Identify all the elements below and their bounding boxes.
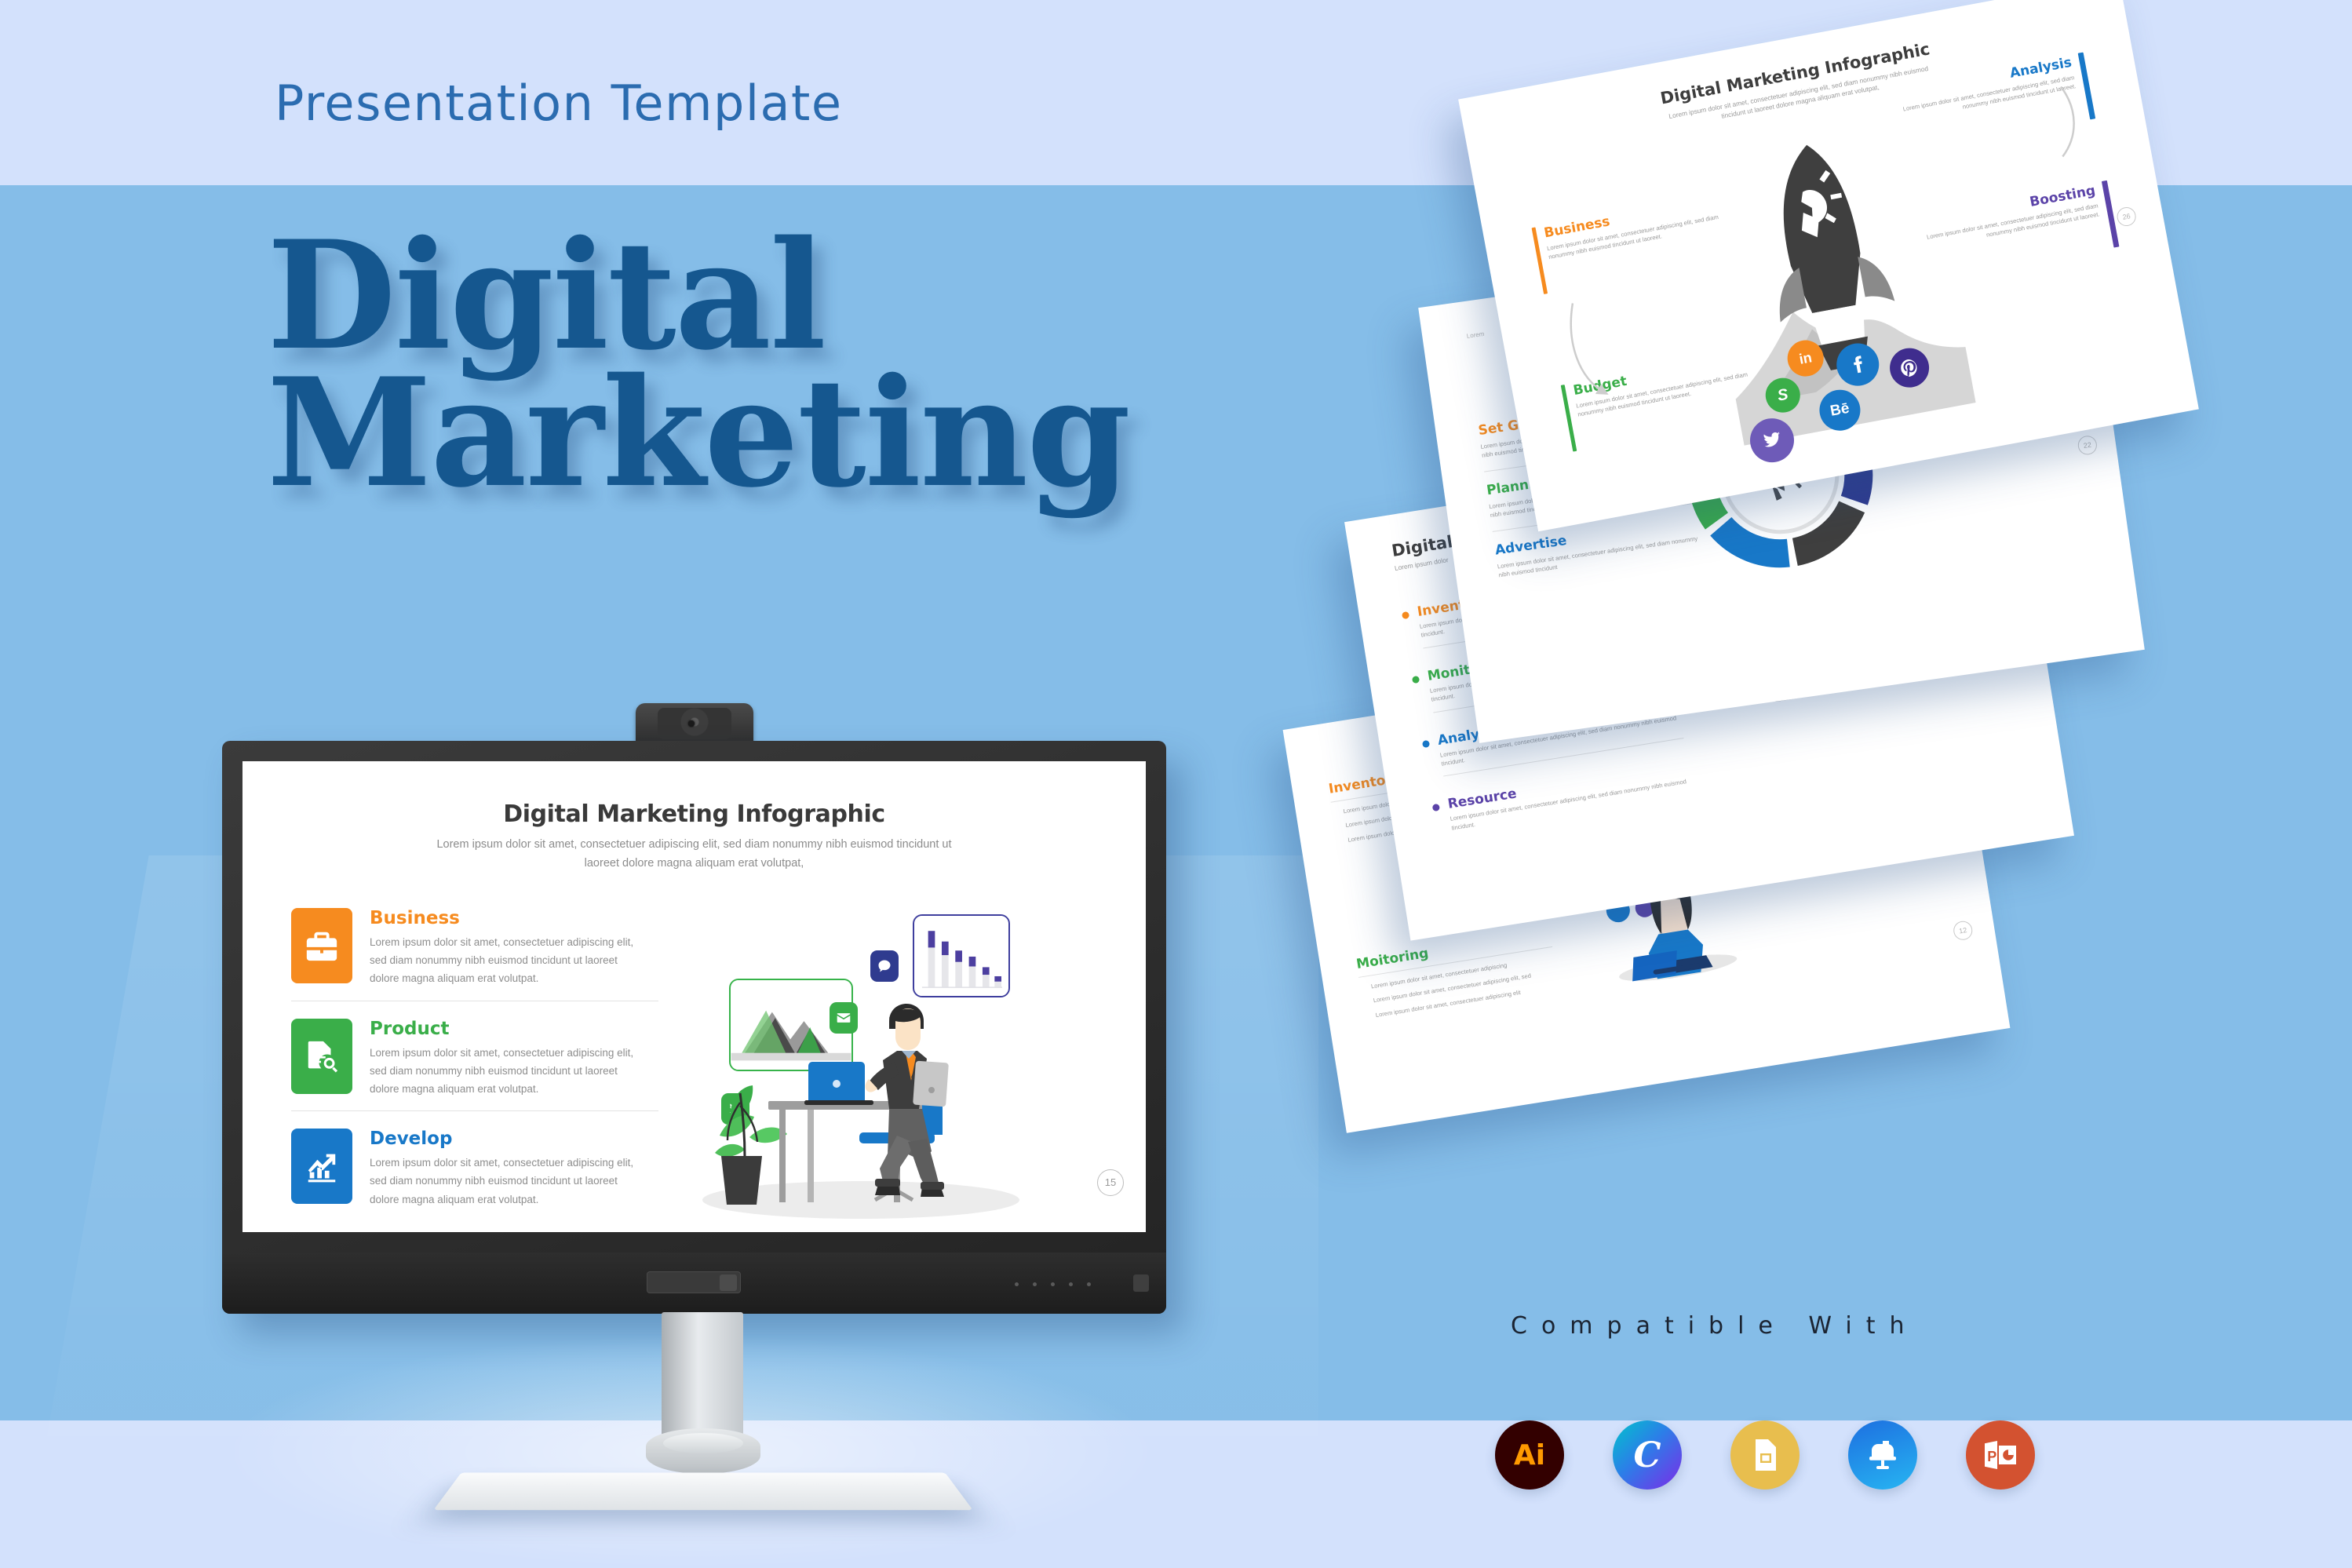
growth-chart-icon — [291, 1129, 352, 1204]
microsoft-powerpoint-icon[interactable]: P — [1966, 1420, 2035, 1490]
deck2-page-number: 22 — [2077, 435, 2098, 456]
monitor-mockup: Digital Marketing Infographic Lorem ipsu… — [222, 741, 1166, 1314]
monitor-brand-tag — [1133, 1274, 1149, 1292]
monitor-screen: Digital Marketing Infographic Lorem ipsu… — [242, 761, 1146, 1232]
slide-page-number: 15 — [1097, 1169, 1124, 1196]
document-search-icon — [291, 1019, 352, 1094]
google-slides-icon[interactable] — [1730, 1420, 1800, 1490]
feature-label: Product — [370, 1019, 646, 1039]
slide-body: Business Lorem ipsum dolor sit amet, con… — [242, 873, 1146, 1209]
monitor-chin-bar — [222, 1253, 1166, 1314]
slide-title: Digital Marketing Infographic — [242, 800, 1146, 828]
slide-subtitle: Lorem ipsum dolor sit amet, consectetuer… — [436, 836, 954, 873]
deck4-page-number: 12 — [1953, 920, 1974, 941]
businessman-at-desk-illustration — [673, 908, 1041, 1232]
feature-list: Business Lorem ipsum dolor sit amet, con… — [242, 897, 658, 1209]
illustrator-label: Ai — [1514, 1439, 1545, 1471]
feature-body: Lorem ipsum dolor sit amet, consectetuer… — [370, 1154, 646, 1209]
compatible-with-label: Compatible With — [1511, 1312, 1919, 1340]
feature-body: Lorem ipsum dolor sit amet, consectetuer… — [370, 1044, 646, 1099]
adobe-illustrator-icon[interactable]: Ai — [1495, 1420, 1564, 1490]
page-title-line2: Marketing — [267, 365, 1366, 502]
feature-label: Develop — [370, 1129, 646, 1149]
feature-item-business: Business Lorem ipsum dolor sit amet, con… — [291, 897, 658, 988]
briefcase-icon — [291, 908, 352, 983]
slide-illustration-column: 15 — [658, 897, 1146, 1209]
kicker-text: Presentation Template — [275, 75, 843, 132]
feature-item-develop: Develop Lorem ipsum dolor sit amet, cons… — [291, 1110, 658, 1209]
desk-scene-svg — [673, 908, 1041, 1232]
monitor-stand-base — [433, 1472, 972, 1510]
feature-body: Lorem ipsum dolor sit amet, consectetuer… — [370, 933, 646, 988]
svg-text:P: P — [1987, 1449, 1996, 1464]
deck2-header-stub: Lorem — [1466, 330, 1485, 340]
monitor-stand-hinge — [646, 1428, 760, 1474]
deck1-page-number: 26 — [2116, 206, 2138, 228]
slide-stack: Inventory Lorem ipsum dolor sit amet, co… — [1303, 16, 2352, 1287]
page-title: Digital Marketing — [267, 228, 1366, 502]
keynote-glyph — [1864, 1436, 1902, 1474]
canva-icon[interactable]: C — [1613, 1420, 1682, 1490]
feature-item-product: Product Lorem ipsum dolor sit amet, cons… — [291, 1001, 658, 1099]
compatible-apps-row: Ai C P — [1495, 1420, 2035, 1490]
slide-header: Digital Marketing Infographic Lorem ipsu… — [242, 761, 1146, 873]
poster-stage: Presentation Template Digital Marketing … — [0, 0, 2352, 1568]
monitor-power-button[interactable] — [647, 1271, 741, 1293]
monitor-control-dots[interactable] — [1015, 1282, 1091, 1286]
powerpoint-glyph: P — [1982, 1436, 2019, 1474]
apple-keynote-icon[interactable] — [1848, 1420, 1917, 1490]
feature-label: Business — [370, 908, 646, 928]
canva-label: C — [1633, 1435, 1661, 1475]
slides-glyph — [1746, 1436, 1784, 1474]
